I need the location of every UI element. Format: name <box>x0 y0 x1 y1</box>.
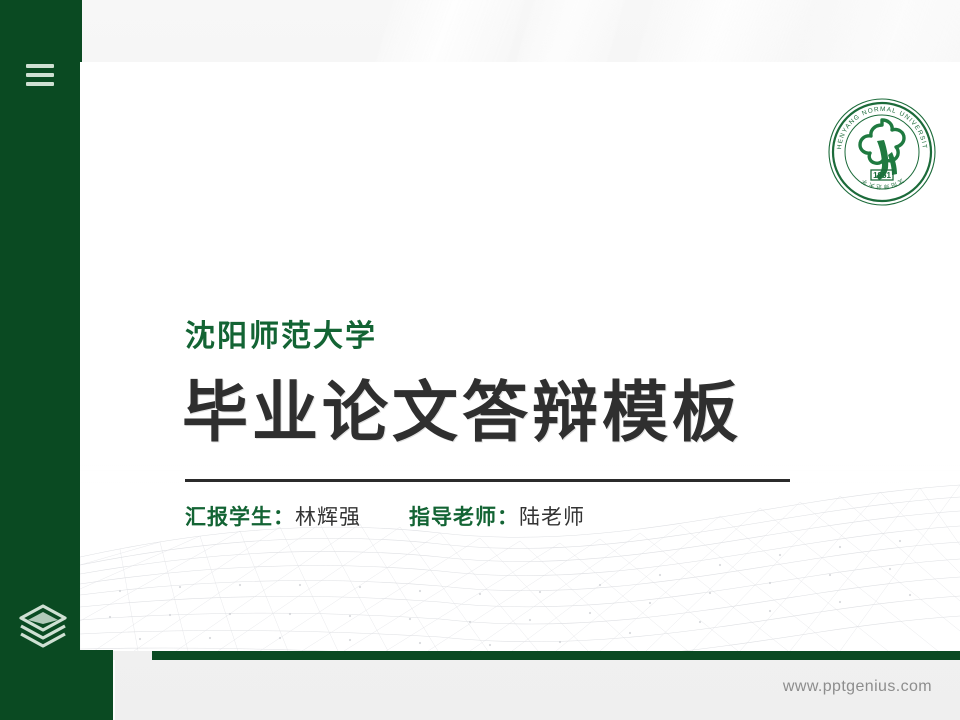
hamburger-bar-3 <box>26 82 54 86</box>
student-label: 汇报学生： <box>185 506 295 529</box>
left-rail-top-cap <box>0 0 82 62</box>
university-seal-icon: SHENYANG NORMAL UNIVERSITY 沈阳师范大学 1951 <box>826 96 938 208</box>
title-divider <box>185 479 790 482</box>
advisor-name: 陆老师 <box>519 506 585 529</box>
mesh-wave-decoration <box>80 461 960 651</box>
student-name: 林辉强 <box>295 506 361 529</box>
left-rail-foot <box>0 650 113 720</box>
hamburger-menu-icon[interactable] <box>26 64 54 86</box>
layers-stack-icon[interactable] <box>17 600 69 652</box>
page-title: 毕业论文答辩模板 <box>182 378 742 447</box>
university-name: 沈阳师范大学 <box>185 322 377 352</box>
hamburger-bar-1 <box>26 64 54 68</box>
rail-foot-separator <box>113 660 115 720</box>
seal-year: 1951 <box>873 171 891 180</box>
slide-stage: SHENYANG NORMAL UNIVERSITY 沈阳师范大学 1951 沈… <box>0 0 960 720</box>
hamburger-bar-2 <box>26 73 54 77</box>
slide-canvas: SHENYANG NORMAL UNIVERSITY 沈阳师范大学 1951 沈… <box>80 62 960 651</box>
slide-bottom-accent-bar <box>152 651 960 660</box>
footer-url[interactable]: www.pptgenius.com <box>783 678 932 696</box>
advisor-label: 指导老师： <box>409 506 519 529</box>
byline: 汇报学生：林辉强指导老师：陆老师 <box>185 507 585 528</box>
